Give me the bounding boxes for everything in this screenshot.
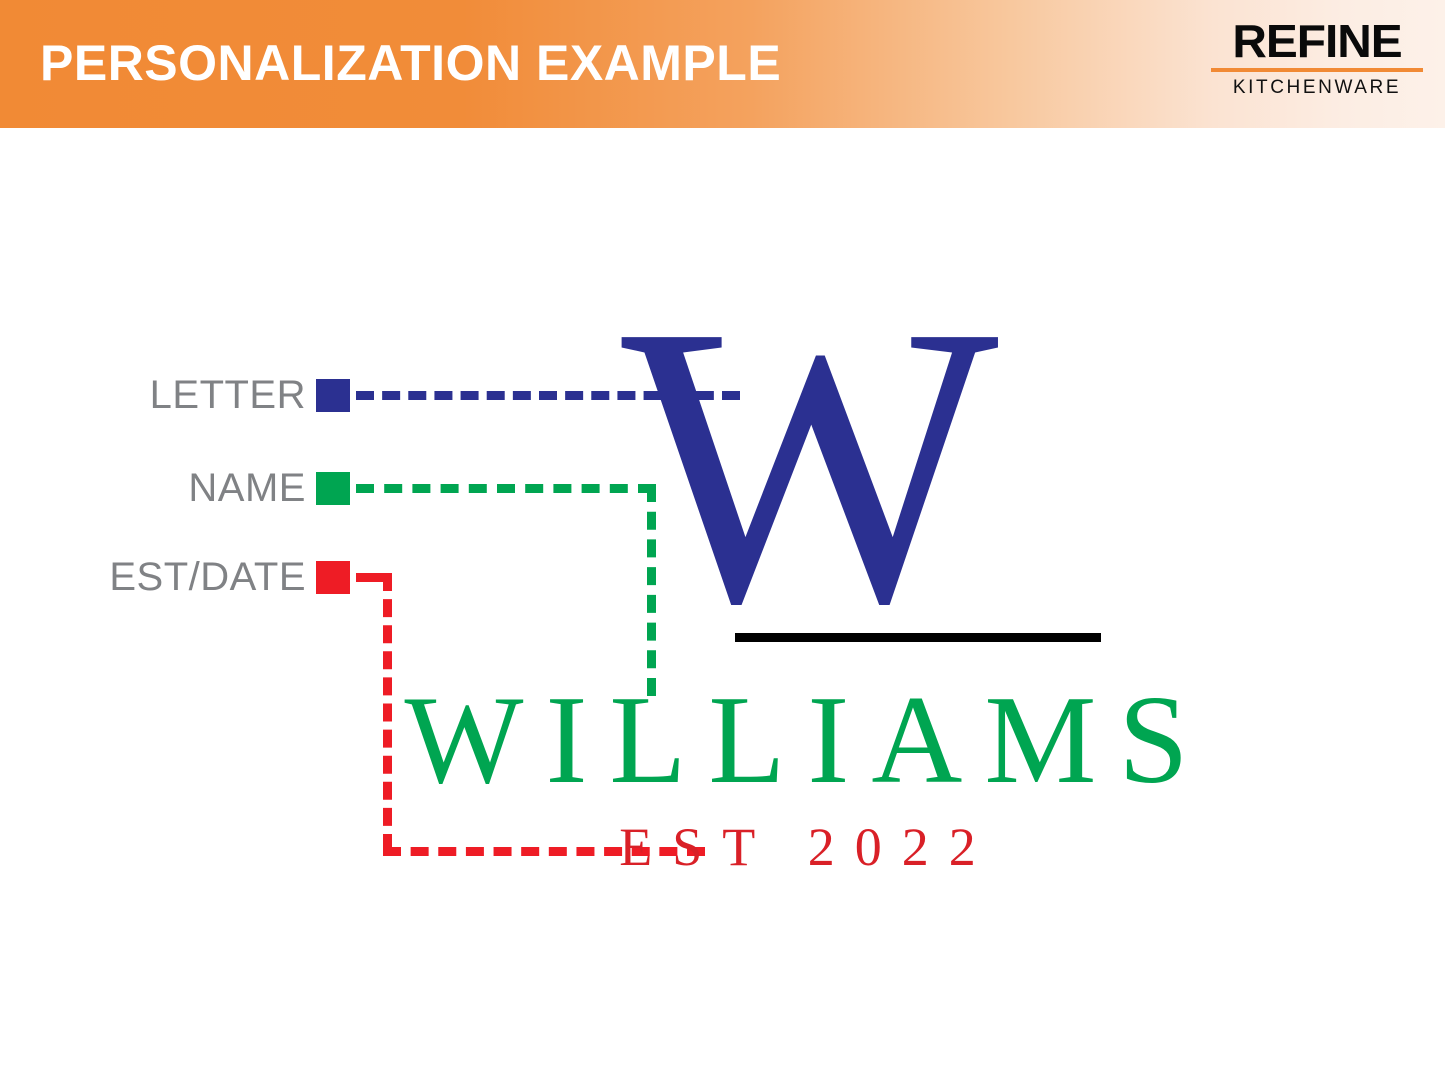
page-title: PERSONALIZATION EXAMPLE (40, 33, 781, 93)
brand-divider (1211, 68, 1423, 72)
monogram-initial: W (0, 300, 1445, 630)
header-banner: PERSONALIZATION EXAMPLE REFINE KITCHENWA… (0, 0, 1445, 128)
personalization-example-page: PERSONALIZATION EXAMPLE REFINE KITCHENWA… (0, 0, 1445, 1084)
monogram-family-name: WILLIAMS (0, 676, 1445, 806)
monogram-divider (735, 633, 1101, 642)
brand-subtitle: KITCHENWARE (1211, 75, 1423, 101)
brand-name: REFINE (1207, 18, 1427, 64)
monogram-established-date: EST 2022 (0, 818, 1445, 876)
brand-logo: REFINE KITCHENWARE (1211, 18, 1423, 101)
